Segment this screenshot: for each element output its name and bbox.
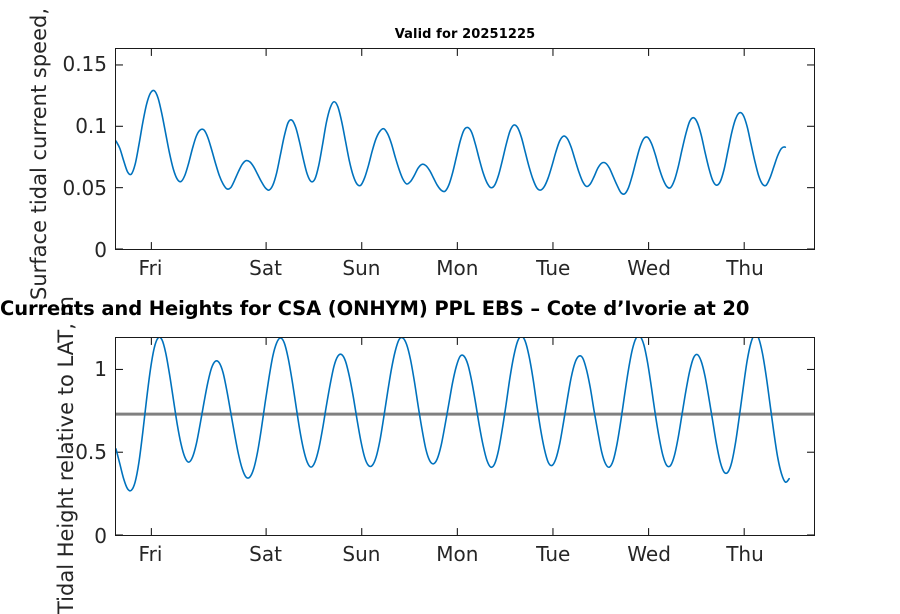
x-tick-label: Thu: [726, 542, 764, 566]
x-tick-label: Fri: [139, 542, 163, 566]
y-tick-label: 0.05: [49, 176, 107, 200]
y-tick-label: 1: [49, 357, 107, 381]
bottom-chart-plot-area: [115, 337, 815, 536]
x-tick-label: Sat: [249, 542, 282, 566]
x-tick-label: Fri: [139, 256, 163, 280]
top-chart-svg: [116, 49, 814, 249]
y-tick-label: 0: [49, 524, 107, 548]
bottom-chart-svg: [116, 338, 814, 535]
data-series-line: [116, 90, 785, 194]
top-chart-plot-area: [115, 48, 815, 250]
y-tick-label: 0: [49, 238, 107, 262]
y-tick-label: 0.1: [49, 114, 107, 138]
x-tick-label: Mon: [436, 256, 478, 280]
top-chart-title: Valid for 20251225: [115, 27, 815, 42]
x-tick-label: Mon: [436, 542, 478, 566]
y-tick-label: 0.15: [49, 52, 107, 76]
x-tick-label: Wed: [627, 542, 671, 566]
x-tick-label: Sun: [342, 256, 380, 280]
x-tick-label: Thu: [726, 256, 764, 280]
x-tick-label: Tue: [536, 542, 570, 566]
y-tick-label: 0.5: [49, 440, 107, 464]
tide-forecast-figure: Surface tidal current speed, kn Tidal He…: [0, 0, 900, 600]
top-chart-y-axis-label: Surface tidal current speed, kn: [27, 0, 51, 300]
x-tick-label: Wed: [627, 256, 671, 280]
figure-main-title: Currents and Heights for CSA (ONHYM) PPL…: [0, 297, 900, 320]
x-tick-label: Tue: [536, 256, 570, 280]
x-tick-label: Sun: [342, 542, 380, 566]
x-tick-label: Sat: [249, 256, 282, 280]
